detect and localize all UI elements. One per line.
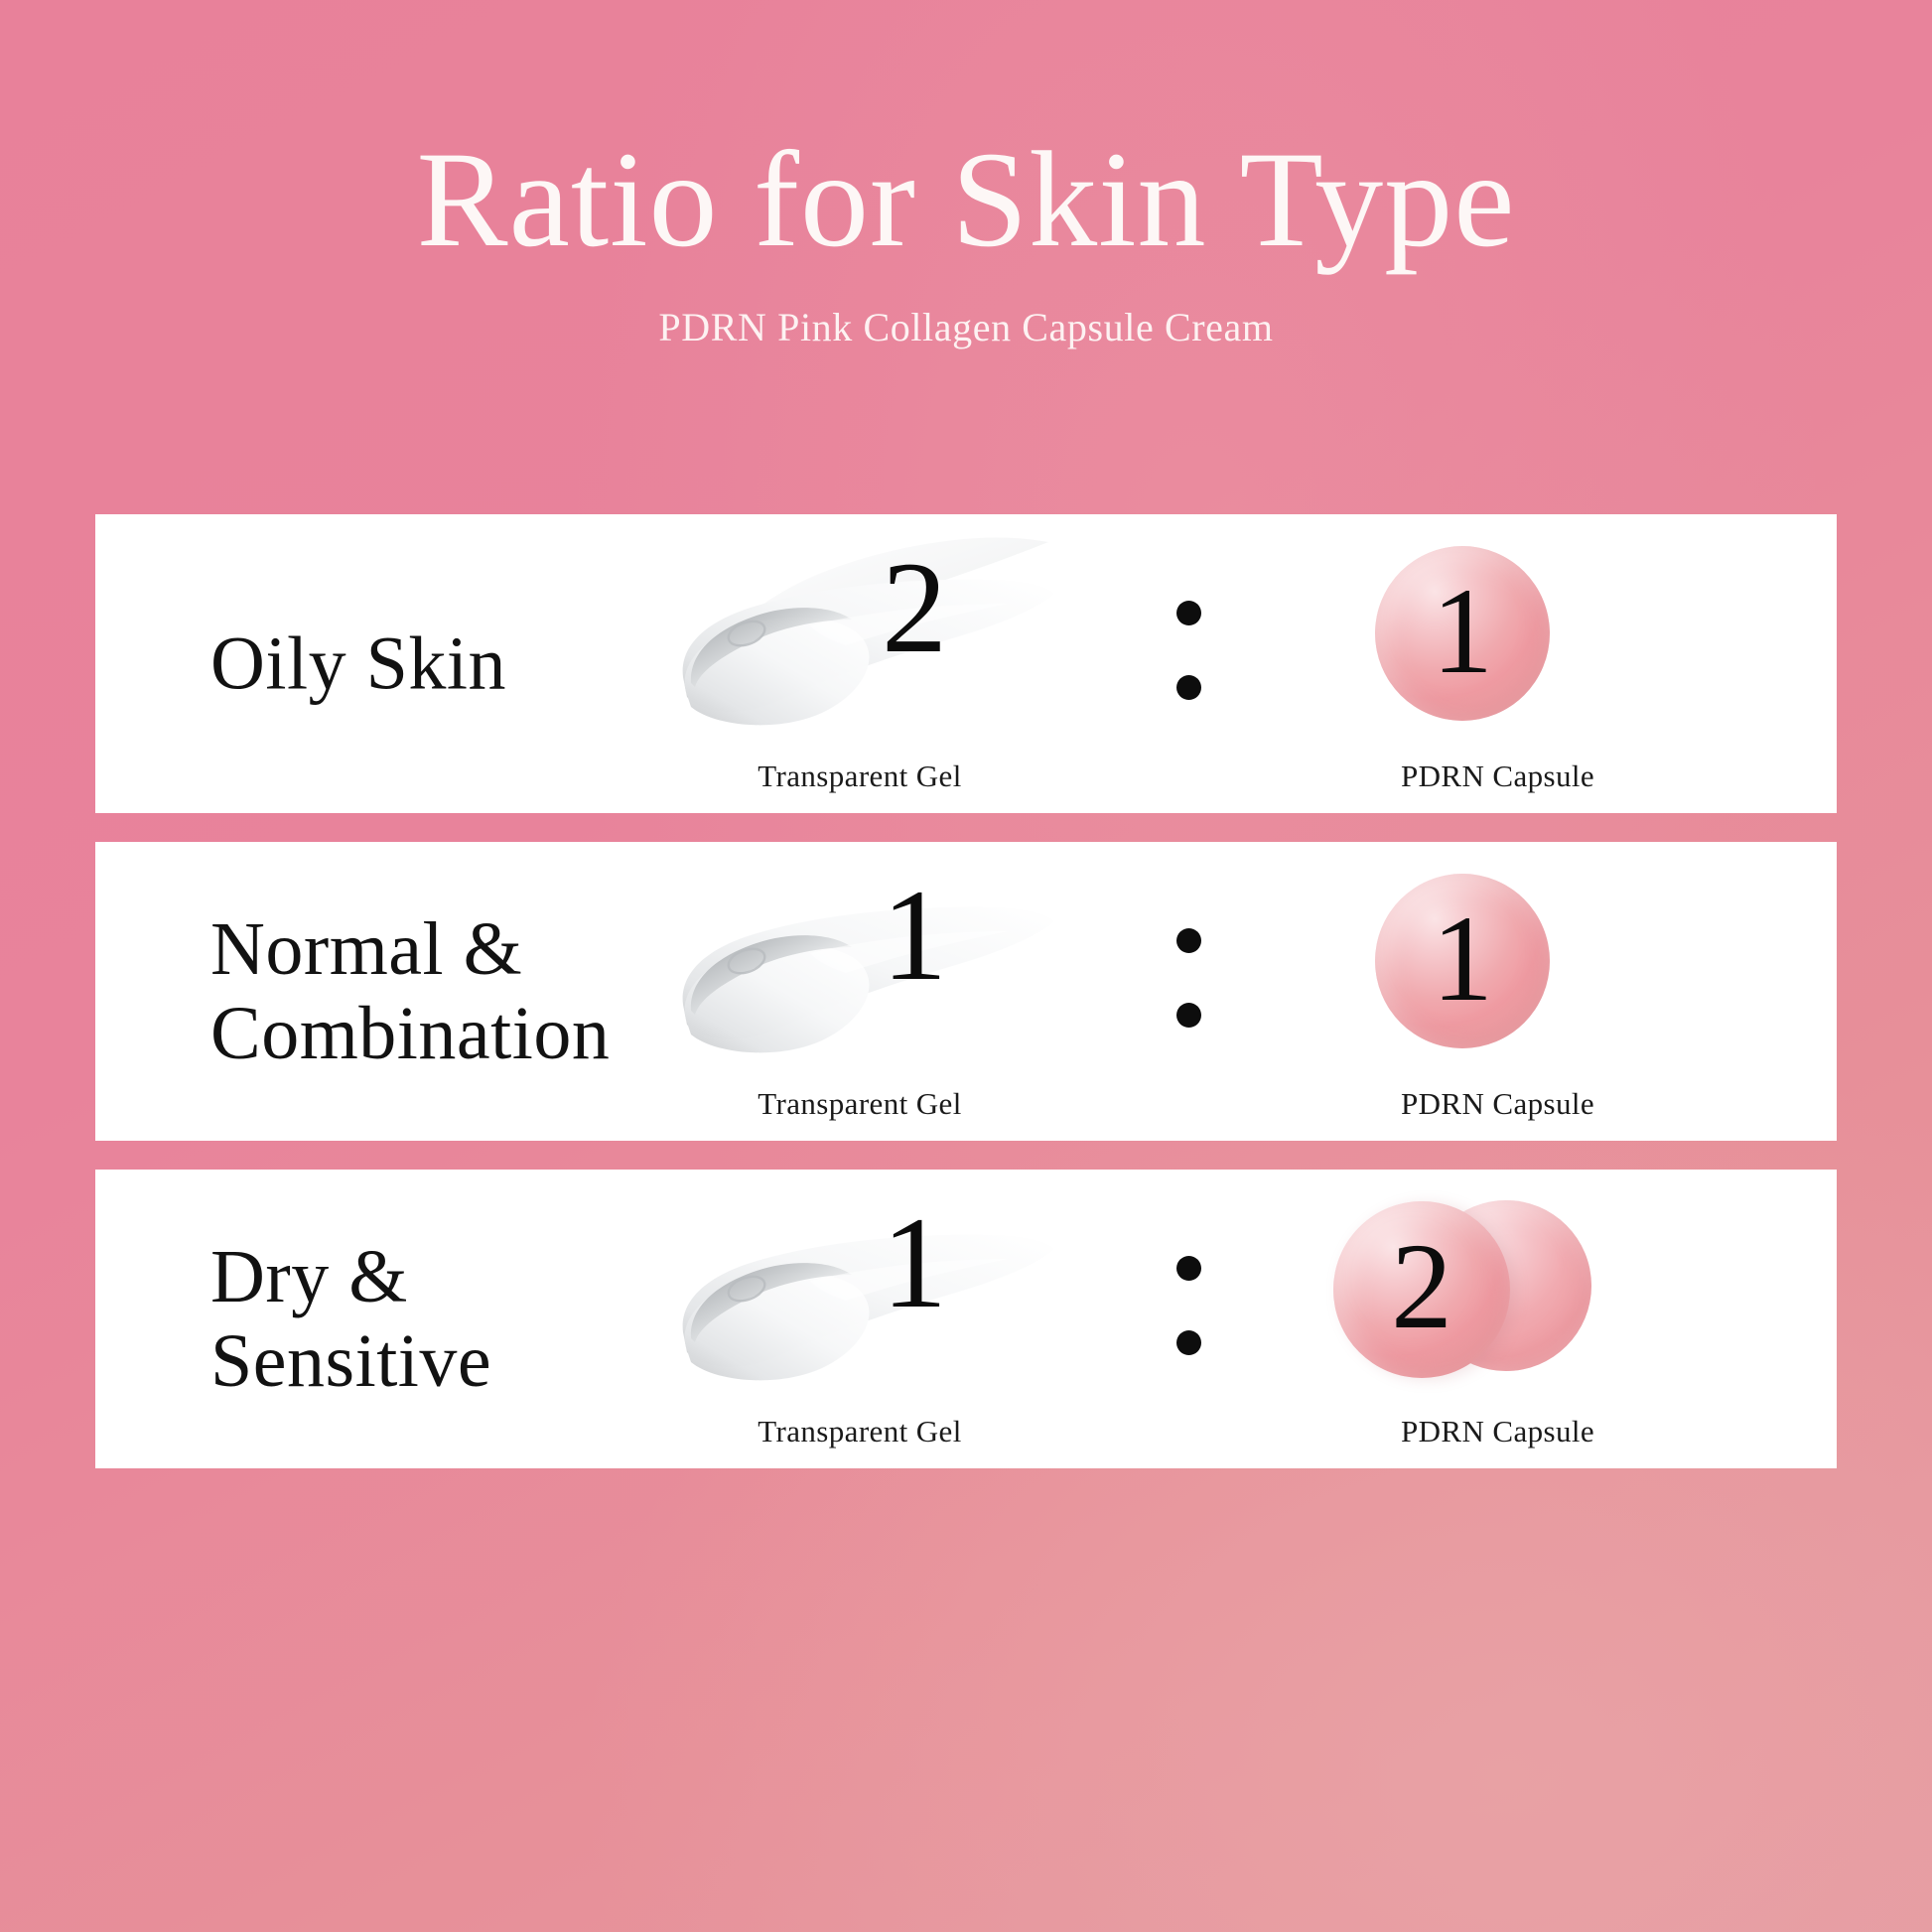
colon-dot-bottom — [1176, 1003, 1201, 1028]
gel-caption: Transparent Gel — [661, 1414, 1058, 1449]
skin-type-card-list: Oily Skin — [95, 514, 1837, 1468]
skin-type-label: Dry & Sensitive — [210, 1234, 491, 1403]
gel-group: 2 Transparent Gel — [661, 514, 1098, 813]
colon-dot-bottom — [1176, 675, 1201, 700]
capsule-caption: PDRN Capsule — [1272, 759, 1724, 794]
gel-group: 1 Transparent Gel — [661, 1170, 1098, 1468]
capsule-caption: PDRN Capsule — [1272, 1086, 1724, 1122]
colon-dot-top — [1176, 928, 1201, 953]
skin-type-card-normal-combination: Normal & Combination — [95, 842, 1837, 1141]
skin-type-label: Oily Skin — [210, 621, 506, 706]
pink-capsule-sphere-icon: 1 — [1272, 866, 1724, 1064]
capsule-group: 1 PDRN Capsule — [1272, 514, 1724, 813]
pink-capsule-sphere-icon: 1 — [1272, 538, 1724, 737]
capsule-group: 1 PDRN Capsule — [1272, 842, 1724, 1141]
gel-caption: Transparent Gel — [661, 759, 1058, 794]
gel-amount: 1 — [855, 1197, 974, 1328]
page-subtitle: PDRN Pink Collagen Capsule Cream — [0, 304, 1932, 350]
capsule-group: 2 PDRN Capsule — [1272, 1170, 1724, 1468]
page-title: Ratio for Skin Type — [0, 131, 1932, 268]
gel-group: 1 Transparent Gel — [661, 842, 1098, 1141]
header: Ratio for Skin Type PDRN Pink Collagen C… — [0, 0, 1932, 350]
colon-dot-top — [1176, 601, 1201, 625]
colon-separator-icon — [1176, 601, 1201, 700]
ratio-for-skin-type-graphic: Ratio for Skin Type PDRN Pink Collagen C… — [0, 0, 1932, 1932]
capsule-amount: 1 — [1375, 570, 1550, 693]
colon-separator-icon — [1176, 928, 1201, 1028]
skin-type-label: Normal & Combination — [210, 906, 610, 1075]
gel-amount: 2 — [855, 542, 974, 673]
skin-type-card-oily: Oily Skin — [95, 514, 1837, 813]
colon-dot-bottom — [1176, 1330, 1201, 1355]
colon-separator-icon — [1176, 1256, 1201, 1355]
capsule-amount: 1 — [1375, 897, 1550, 1021]
capsule-amount: 2 — [1333, 1225, 1510, 1348]
gel-amount: 1 — [855, 870, 974, 1001]
colon-dot-top — [1176, 1256, 1201, 1281]
capsule-caption: PDRN Capsule — [1272, 1414, 1724, 1449]
gel-caption: Transparent Gel — [661, 1086, 1058, 1122]
pink-capsule-sphere-icon: 2 — [1272, 1193, 1724, 1392]
skin-type-card-dry-sensitive: Dry & Sensitive — [95, 1170, 1837, 1468]
